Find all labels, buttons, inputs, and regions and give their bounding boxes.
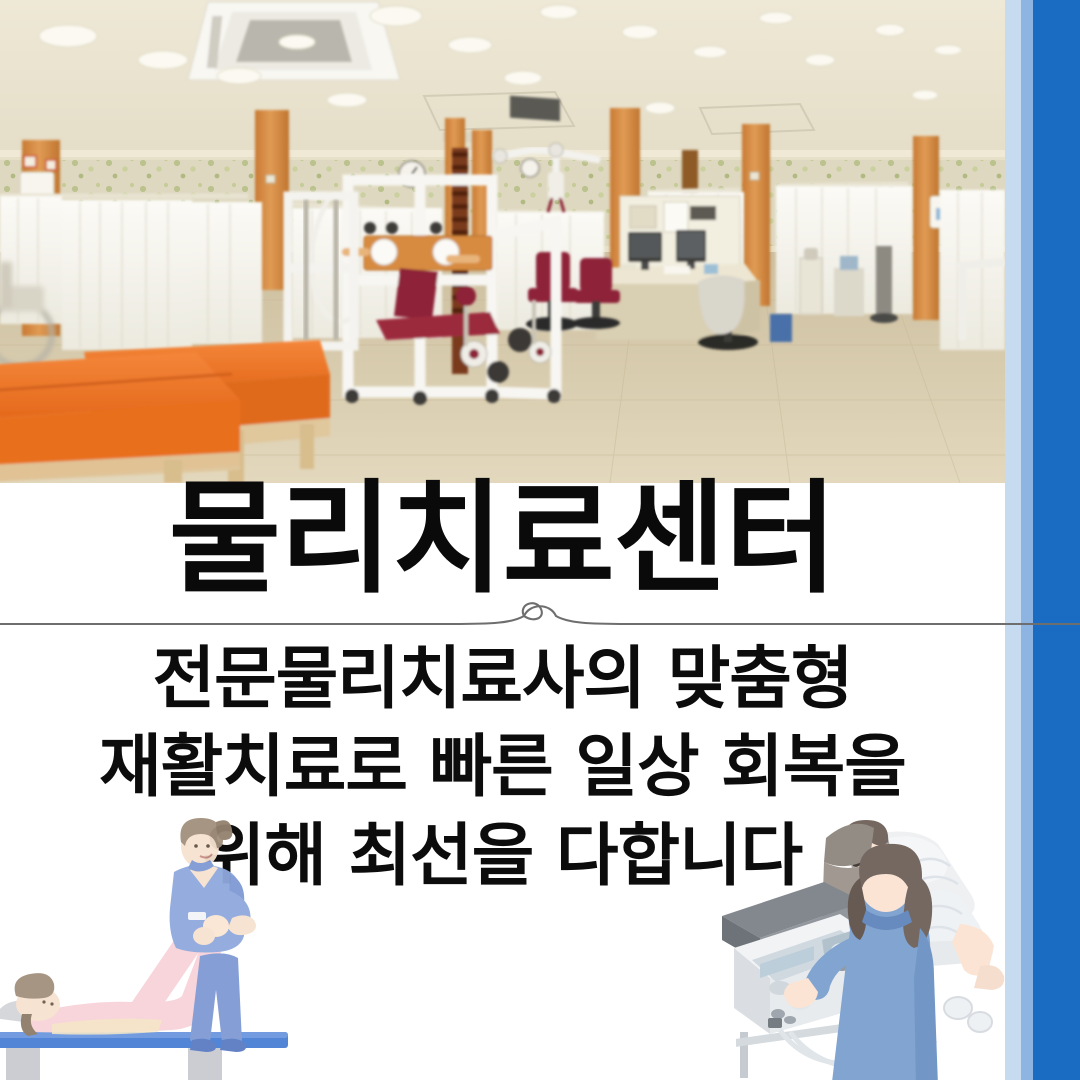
page-title: 물리치료센터 bbox=[0, 478, 1005, 600]
accent-band-mid-blue bbox=[1021, 0, 1033, 1080]
illustration-electrotherapy-session bbox=[628, 818, 1016, 1080]
body-line-1: 전문물리치료사의 맞춤형 bbox=[0, 636, 1005, 724]
accent-band-dark-blue bbox=[1033, 0, 1080, 1080]
clinic-interior-photo bbox=[0, 0, 1005, 483]
illustration-leg-stretch-therapy bbox=[0, 818, 322, 1080]
poster-root: 물리치료센터 전문물리치료사의 맞춤형 재활치료로 빠른 일상 회복을 위해 최… bbox=[0, 0, 1080, 1080]
body-line-2: 재활치료로 빠른 일상 회복을 bbox=[0, 724, 1005, 812]
